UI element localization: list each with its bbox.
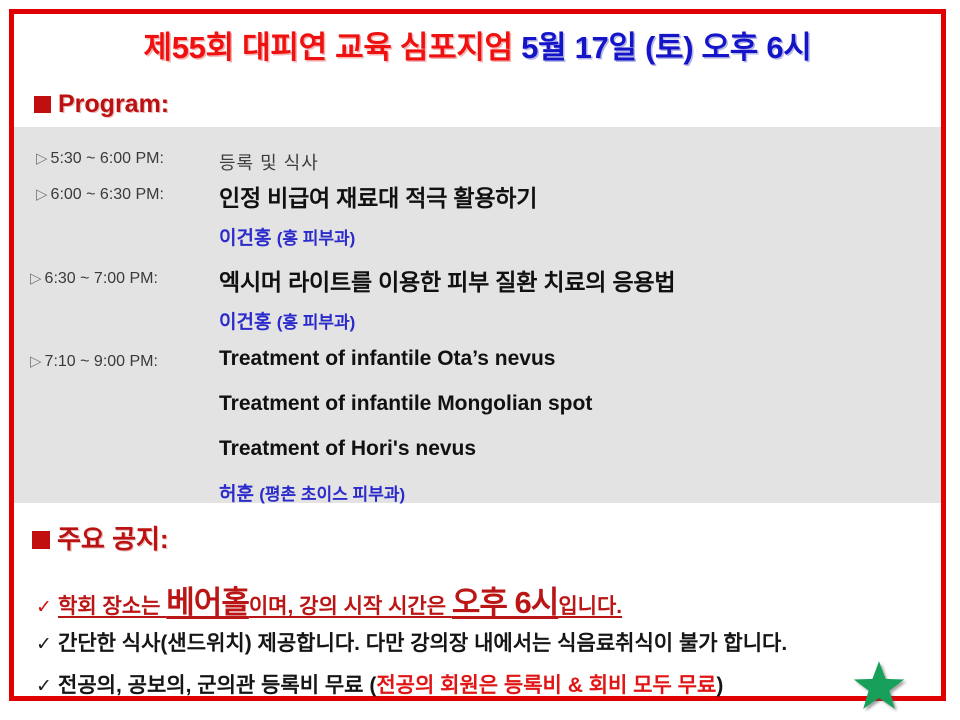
program-item-3-title: 엑시머 라이트를 이용한 피부 질환 치료의 응용법 bbox=[219, 263, 675, 297]
speaker-name: 이건홍 bbox=[219, 228, 271, 249]
notice-1-venue: 베어홀 bbox=[166, 585, 249, 620]
notice-item-2: ✓간단한 식사(샌드위치) 제공합니다. 다만 강의장 내에서는 식음료취식이 … bbox=[36, 627, 787, 657]
speaker-affiliation: (평촌 초이스 피부과) bbox=[259, 485, 405, 504]
notice-heading: 주요 공지: bbox=[32, 519, 169, 556]
notice-item-3: ✓전공의, 공보의, 군의관 등록비 무료 (전공의 회원은 등록비 & 회비 … bbox=[36, 669, 723, 699]
program-time-1-label: 5:30 ~ 6:00 PM: bbox=[51, 150, 164, 167]
notice-2-text: 간단한 식사(샌드위치) 제공합니다. 다만 강의장 내에서는 식음료취식이 불… bbox=[58, 632, 787, 655]
speaker-affiliation: (홍 피부과) bbox=[277, 313, 356, 332]
triangle-marker-icon: ▷ bbox=[30, 270, 42, 287]
speaker-name: 이건홍 bbox=[219, 312, 271, 333]
program-heading-label: Program: bbox=[58, 90, 169, 118]
notice-3-lead: 전공의, 공보의, 군의관 등록비 무료 ( bbox=[58, 674, 376, 697]
check-icon: ✓ bbox=[36, 675, 58, 698]
square-bullet-icon bbox=[32, 531, 50, 549]
triangle-marker-icon: ▷ bbox=[30, 353, 42, 370]
check-icon: ✓ bbox=[36, 596, 58, 619]
program-panel: ▷5:30 ~ 6:00 PM: 등록 및 식사 ▷6:00 ~ 6:30 PM… bbox=[14, 127, 941, 503]
speaker-affiliation: (홍 피부과) bbox=[277, 229, 356, 248]
program-item-2-speaker: 이건홍 (홍 피부과) bbox=[219, 223, 355, 250]
program-time-4-label: 7:10 ~ 9:00 PM: bbox=[45, 353, 158, 370]
program-item-4-title-2: Treatment of infantile Mongolian spot bbox=[219, 392, 592, 416]
program-item-4-speaker: 허훈 (평촌 초이스 피부과) bbox=[219, 479, 405, 506]
program-time-2: ▷6:00 ~ 6:30 PM: bbox=[36, 185, 164, 204]
poster-frame: 제55회 대피연 교육 심포지엄 5월 17일 (토) 오후 6시 Progra… bbox=[9, 9, 946, 701]
triangle-marker-icon: ▷ bbox=[36, 186, 48, 203]
title-blue-text: 5월 17일 (토) 오후 6시 bbox=[521, 30, 811, 65]
notice-1-seg5: 입니다. bbox=[558, 595, 622, 618]
program-item-1-text: 등록 및 식사 bbox=[219, 149, 319, 175]
program-time-4: ▷7:10 ~ 9:00 PM: bbox=[30, 352, 158, 371]
speaker-name: 허훈 bbox=[219, 484, 254, 505]
triangle-marker-icon: ▷ bbox=[36, 150, 48, 167]
notice-item-1: ✓학회 장소는 베어홀이며, 강의 시작 시간은 오후 6시입니다. bbox=[36, 577, 622, 622]
notice-1-starttime: 오후 6시 bbox=[452, 585, 558, 620]
program-heading: Program: bbox=[34, 90, 169, 119]
program-item-4-title-3: Treatment of Hori's nevus bbox=[219, 437, 476, 461]
notice-1-seg1: 학회 장소는 bbox=[58, 595, 166, 618]
program-item-3-speaker: 이건홍 (홍 피부과) bbox=[219, 307, 355, 334]
green-star-icon bbox=[850, 659, 908, 715]
notice-1-seg3: 이며, 강의 시작 시간은 bbox=[249, 595, 452, 618]
program-item-4-title-1: Treatment of infantile Ota’s nevus bbox=[219, 347, 555, 371]
program-time-2-label: 6:00 ~ 6:30 PM: bbox=[51, 186, 164, 203]
square-bullet-icon bbox=[34, 96, 51, 113]
notice-3-highlight: 전공의 회원은 등록비 & 회비 모두 무료 bbox=[376, 674, 716, 697]
program-item-2-title: 인정 비급여 재료대 적극 활용하기 bbox=[219, 179, 537, 213]
check-icon: ✓ bbox=[36, 633, 58, 656]
title-red-text: 제55회 대피연 교육 심포지엄 bbox=[144, 30, 513, 65]
program-time-3-label: 6:30 ~ 7:00 PM: bbox=[45, 270, 158, 287]
notice-heading-label: 주요 공지: bbox=[57, 524, 169, 554]
page-title: 제55회 대피연 교육 심포지엄 5월 17일 (토) 오후 6시 bbox=[14, 22, 941, 67]
program-time-3: ▷6:30 ~ 7:00 PM: bbox=[30, 269, 158, 288]
program-time-1: ▷5:30 ~ 6:00 PM: bbox=[36, 149, 164, 168]
notice-3-tail: ) bbox=[716, 674, 723, 697]
